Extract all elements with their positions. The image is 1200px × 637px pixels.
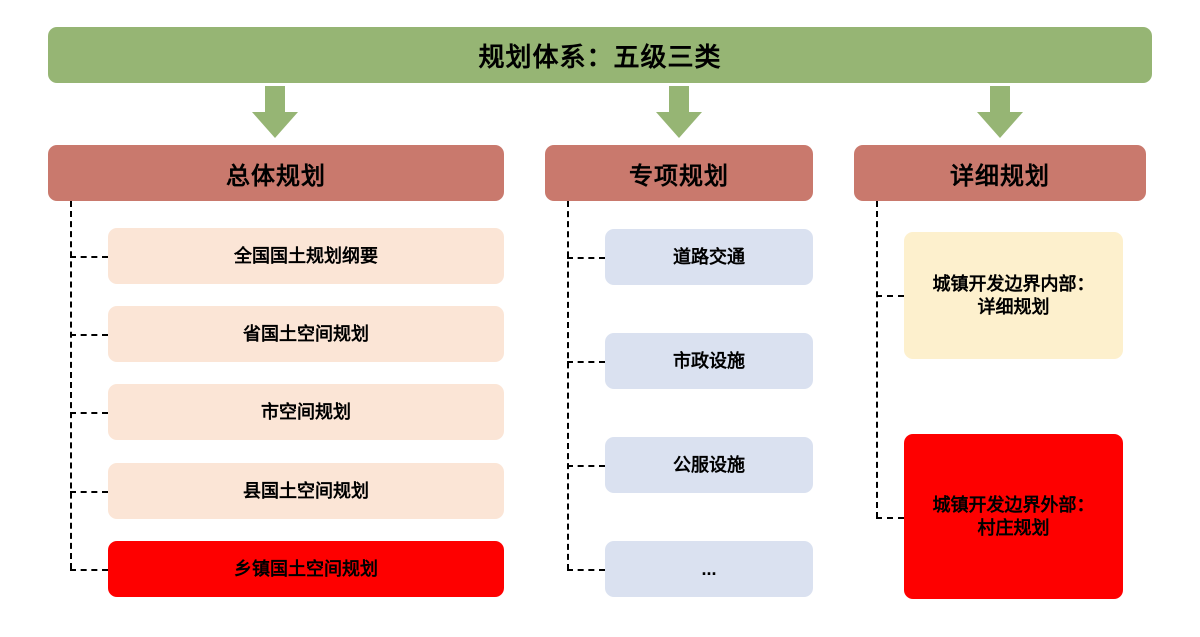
column-header-label: 专项规划 [629,156,729,191]
connector-branch [567,569,605,571]
arrow-head [656,112,702,138]
arrow-shaft [990,86,1010,114]
column-header-label: 详细规划 [950,156,1050,191]
arrow-to-overall-planning [252,86,298,138]
column-header-overall-planning[interactable]: 总体规划 [48,145,504,201]
column-header-label: 总体规划 [226,156,326,191]
item-label: 市空间规划 [261,401,351,424]
item-box[interactable]: 全国国土规划纲要 [108,228,504,284]
item-label: 城镇开发边界内部： 详细规划 [933,273,1095,318]
connector-branch [567,361,605,363]
connector-branch [876,295,904,297]
connector-trunk-detailed-planning [876,201,878,518]
item-box[interactable]: 县国土空间规划 [108,463,504,519]
item-label: 城镇开发边界外部： 村庄规划 [933,494,1095,539]
connector-branch [70,491,108,493]
item-label: 全国国土规划纲要 [234,245,378,268]
item-box[interactable]: 市政设施 [605,333,813,389]
item-label: 县国土空间规划 [243,480,369,503]
item-label: 市政设施 [673,350,745,373]
arrow-to-special-planning [656,86,702,138]
connector-branch [567,465,605,467]
arrow-shaft [265,86,285,114]
connector-branch [70,412,108,414]
diagram-title-bar: 规划体系：五级三类 [48,27,1152,83]
item-label: ... [701,558,716,581]
column-header-special-planning[interactable]: 专项规划 [545,145,813,201]
item-box-highlighted[interactable]: 城镇开发边界外部： 村庄规划 [904,434,1123,599]
item-label: 道路交通 [673,246,745,269]
page-title: 规划体系：五级三类 [478,37,721,74]
item-box[interactable]: ... [605,541,813,597]
item-label: 乡镇国土空间规划 [234,558,378,581]
diagram-canvas: 规划体系：五级三类 总体规划 全国国土规划纲要 省国土空间规划 市空间规划 县国… [0,0,1200,637]
connector-branch [70,256,108,258]
column-header-detailed-planning[interactable]: 详细规划 [854,145,1146,201]
item-box[interactable]: 市空间规划 [108,384,504,440]
item-box-highlighted[interactable]: 乡镇国土空间规划 [108,541,504,597]
connector-branch [70,334,108,336]
connector-branch [567,257,605,259]
item-label: 省国土空间规划 [243,323,369,346]
arrow-shaft [669,86,689,114]
item-box[interactable]: 道路交通 [605,229,813,285]
arrow-to-detailed-planning [977,86,1023,138]
arrow-head [977,112,1023,138]
item-box[interactable]: 省国土空间规划 [108,306,504,362]
item-box[interactable]: 城镇开发边界内部： 详细规划 [904,232,1123,359]
connector-branch [70,569,108,571]
arrow-head [252,112,298,138]
item-box[interactable]: 公服设施 [605,437,813,493]
connector-branch [876,517,904,519]
item-label: 公服设施 [673,454,745,477]
